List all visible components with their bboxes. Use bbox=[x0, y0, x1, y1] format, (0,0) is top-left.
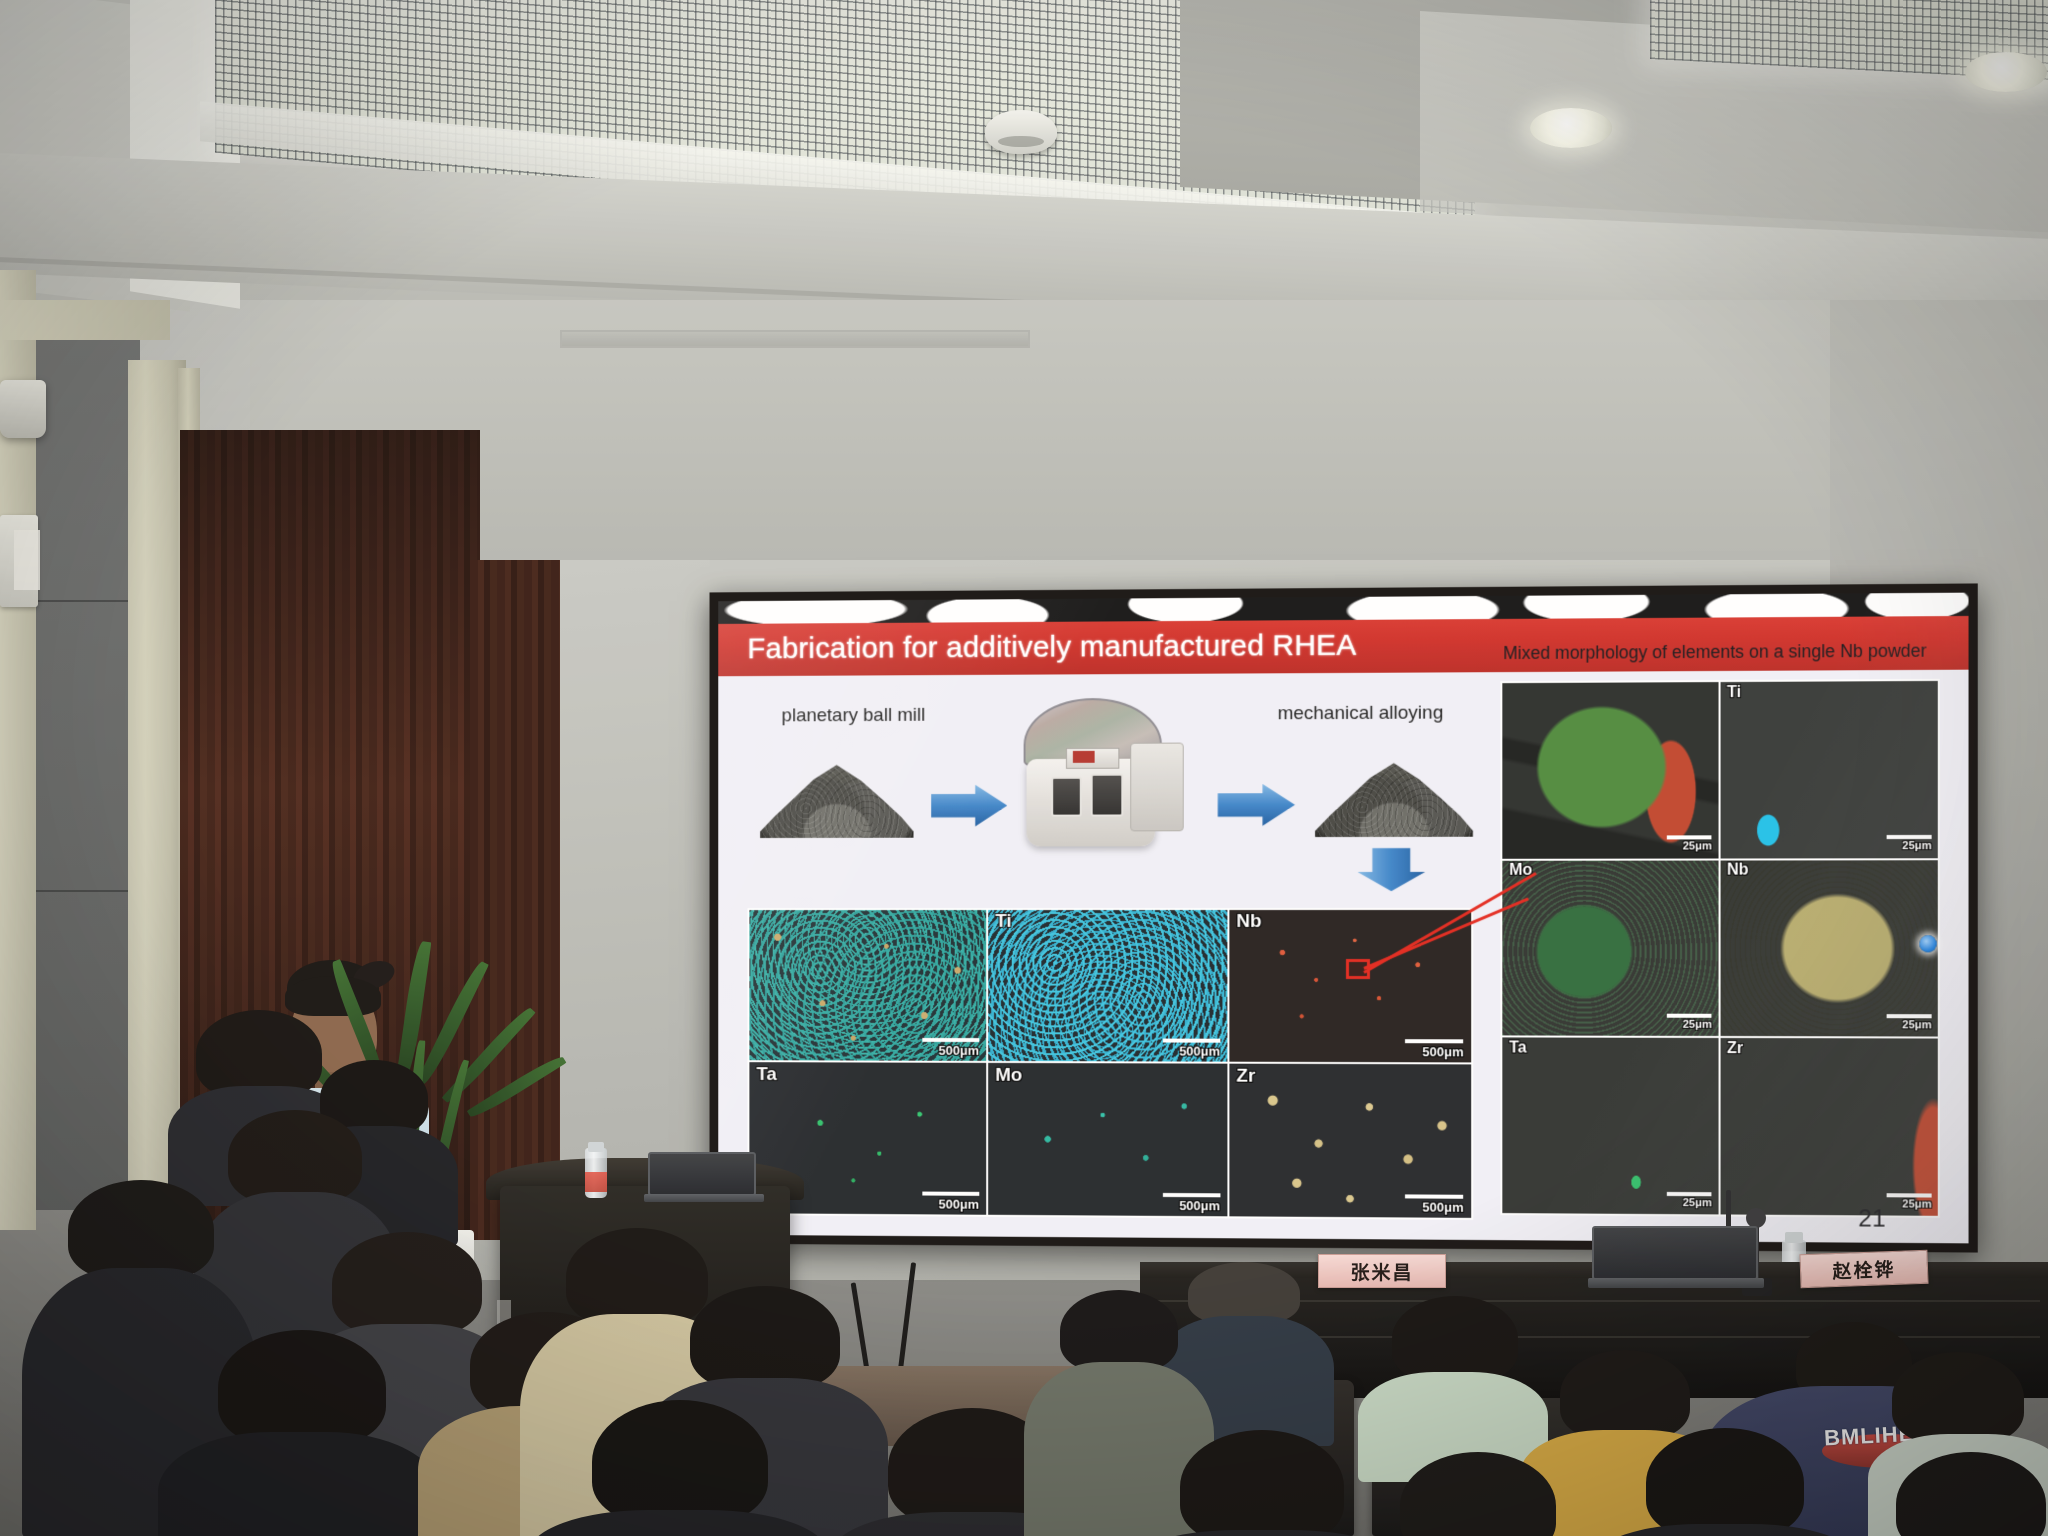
wall-notice bbox=[14, 530, 40, 590]
monitor-base bbox=[1588, 1278, 1764, 1288]
arrow-down bbox=[1358, 848, 1426, 891]
mill-jar-2 bbox=[1091, 774, 1123, 817]
audience-hair bbox=[1892, 1352, 2024, 1444]
eds-scale-text: 500μm bbox=[1422, 1200, 1463, 1213]
eds-tile-label: Zr bbox=[1727, 1040, 1743, 1058]
eds-scale-bar bbox=[1667, 1014, 1712, 1018]
arrow-right-2 bbox=[1218, 784, 1295, 826]
audience-hair bbox=[196, 1010, 322, 1098]
eds-scale-bar-group: 25μm bbox=[1887, 1193, 1932, 1210]
audience-hair bbox=[1060, 1290, 1178, 1372]
eds-tile-titanium: Ti500μm bbox=[988, 910, 1227, 1062]
audience-hair bbox=[592, 1400, 768, 1524]
eds-tile-zirconium: Zr500μm bbox=[1229, 1064, 1471, 1218]
eds-scale-text: 25μm bbox=[1683, 1020, 1712, 1031]
audience-hair bbox=[218, 1330, 386, 1446]
audience-body bbox=[158, 1432, 440, 1536]
bottle-label bbox=[585, 1172, 607, 1192]
lecture-hall-photo: Fabrication for additively manufactured … bbox=[0, 0, 2048, 1536]
process-label-left: planetary ball mill bbox=[782, 705, 926, 727]
nameplate-left-text: 张米昌 bbox=[1350, 1258, 1413, 1285]
planetary-ball-mill bbox=[1020, 697, 1198, 850]
microphone-head bbox=[1746, 1208, 1766, 1228]
smoke-detector bbox=[985, 110, 1057, 154]
door-header bbox=[0, 300, 170, 340]
audience-hair bbox=[68, 1180, 214, 1280]
eds-tile-label: Ti bbox=[1727, 684, 1741, 702]
eds-scale-text: 25μm bbox=[1902, 1020, 1931, 1031]
eds-scale-text: 25μm bbox=[1683, 842, 1712, 853]
audience-hair bbox=[566, 1228, 708, 1326]
eds-scale-text: 25μm bbox=[1902, 841, 1931, 852]
screen-surface: Fabrication for additively manufactured … bbox=[718, 593, 1968, 1244]
head-table-monitor[interactable] bbox=[1592, 1226, 1768, 1288]
eds-scale-bar-group: 25μm bbox=[1667, 1192, 1712, 1209]
eds-scale-bar-group: 500μm bbox=[922, 1191, 979, 1210]
slide-title: Fabrication for additively manufactured … bbox=[747, 629, 1356, 666]
eds-scale-bar-group: 500μm bbox=[1405, 1039, 1463, 1058]
eds-scale-text: 500μm bbox=[1422, 1045, 1463, 1058]
eds-tile-titanium: Ti25μm bbox=[1720, 681, 1938, 858]
eds-scale-bar-group: 25μm bbox=[1667, 1014, 1712, 1031]
mill-side-body bbox=[1130, 743, 1184, 831]
eds-tile-tantalum: Ta25μm bbox=[1503, 1038, 1719, 1215]
eds-scale-text: 500μm bbox=[1179, 1199, 1220, 1212]
eds-tile-niobium: Nb25μm bbox=[1720, 860, 1938, 1037]
single-nb-powder-eds-grid-25um: 25μmTi25μmMo25μmNb25μmTa25μmZr25μm bbox=[1501, 679, 1941, 1218]
lectern-laptop[interactable] bbox=[648, 1152, 768, 1204]
eds-tile-molybdenum: Mo25μm bbox=[1503, 860, 1719, 1036]
audience-hair bbox=[1188, 1262, 1300, 1324]
eds-scale-bar bbox=[922, 1191, 979, 1195]
eds-scale-bar-group: 25μm bbox=[1887, 835, 1932, 852]
eds-tile-label: Nb bbox=[1727, 862, 1749, 880]
eds-scale-bar bbox=[1887, 1014, 1932, 1018]
eds-scale-bar bbox=[1405, 1039, 1463, 1043]
eds-scale-text: 25μm bbox=[1683, 1198, 1712, 1209]
eds-scale-bar bbox=[1405, 1194, 1463, 1198]
slide-page-number: 21 bbox=[1858, 1205, 1885, 1233]
eds-scale-bar bbox=[922, 1038, 979, 1042]
audience-hair bbox=[228, 1110, 362, 1204]
ceiling-vent bbox=[560, 330, 1030, 348]
eds-scale-bar bbox=[1887, 1193, 1932, 1197]
eds-scale-text: 500μm bbox=[1179, 1044, 1220, 1057]
eds-scale-text: 500μm bbox=[939, 1197, 979, 1210]
mill-jar-1 bbox=[1052, 777, 1082, 817]
audience-hair bbox=[332, 1232, 482, 1336]
nameplate-right: 赵栓铧 bbox=[1799, 1250, 1928, 1288]
arrow-right-1 bbox=[931, 785, 1007, 827]
laptop-base bbox=[644, 1194, 764, 1202]
wall-speaker bbox=[0, 380, 46, 438]
right-panel-heading: Mixed morphology of elements on a single… bbox=[1503, 641, 1935, 664]
mill-panel-indicator bbox=[1073, 751, 1094, 763]
monitor-screen bbox=[1592, 1226, 1758, 1280]
eds-scale-bar-group: 500μm bbox=[1162, 1038, 1220, 1057]
process-label-right: mechanical alloying bbox=[1278, 703, 1444, 726]
audience-hair bbox=[1392, 1296, 1518, 1382]
nameplate-left: 张米昌 bbox=[1318, 1254, 1446, 1288]
eds-scale-bar bbox=[1887, 835, 1932, 839]
eds-tile-mixed-overlay: 25μm bbox=[1503, 682, 1719, 858]
eds-tile-label: Ti bbox=[995, 911, 1011, 933]
eds-tile-label: Ta bbox=[756, 1064, 776, 1086]
eds-scale-bar bbox=[1667, 1192, 1712, 1196]
eds-scale-bar-group: 500μm bbox=[1162, 1193, 1220, 1212]
downlight-2 bbox=[1965, 52, 2047, 92]
eds-scale-bar-group: 500μm bbox=[922, 1038, 979, 1057]
projection-screen[interactable]: Fabrication for additively manufactured … bbox=[710, 583, 1978, 1252]
eds-scale-bar bbox=[1162, 1193, 1220, 1197]
eds-tile-label: Zr bbox=[1236, 1066, 1255, 1088]
audience-hair bbox=[1560, 1350, 1690, 1440]
bottle-cap bbox=[588, 1142, 604, 1152]
eds-tile-zirconium: Zr25μm bbox=[1720, 1038, 1938, 1216]
eds-tile-label: Ta bbox=[1509, 1039, 1527, 1057]
bottle-cap bbox=[1785, 1232, 1803, 1243]
slide: Fabrication for additively manufactured … bbox=[718, 593, 1968, 1244]
eds-scale-bar-group: 500μm bbox=[1405, 1194, 1463, 1213]
nameplate-right-text: 赵栓铧 bbox=[1832, 1254, 1896, 1283]
eds-tile-label: Mo bbox=[995, 1065, 1022, 1087]
laptop-screen bbox=[648, 1152, 756, 1196]
eds-tile-molybdenum: Mo500μm bbox=[988, 1063, 1227, 1216]
downlight-1 bbox=[1530, 108, 1612, 148]
powder-heap-after bbox=[1315, 763, 1473, 837]
slide-body: planetary ball mill mechanical alloying bbox=[718, 669, 1968, 1243]
eds-scale-text: 25μm bbox=[1902, 1199, 1931, 1210]
eds-scale-bar bbox=[1667, 836, 1712, 840]
audience-hair bbox=[690, 1286, 840, 1390]
eds-tile-mixed-overlay: 500μm bbox=[749, 910, 986, 1062]
eds-scale-bar bbox=[1162, 1038, 1220, 1042]
eds-map-grid-500um: 500μmTi500μmNb500μmTa500μmMo500μmZr500μm bbox=[747, 908, 1472, 1220]
eds-scale-text: 500μm bbox=[939, 1044, 979, 1057]
audience-hair bbox=[1646, 1428, 1804, 1536]
eds-scale-bar-group: 25μm bbox=[1667, 836, 1712, 853]
audience-hair bbox=[1180, 1430, 1344, 1536]
eds-tile-label: Nb bbox=[1236, 911, 1261, 933]
powder-heap-before bbox=[760, 765, 914, 838]
eds-scale-bar-group: 25μm bbox=[1887, 1014, 1932, 1031]
